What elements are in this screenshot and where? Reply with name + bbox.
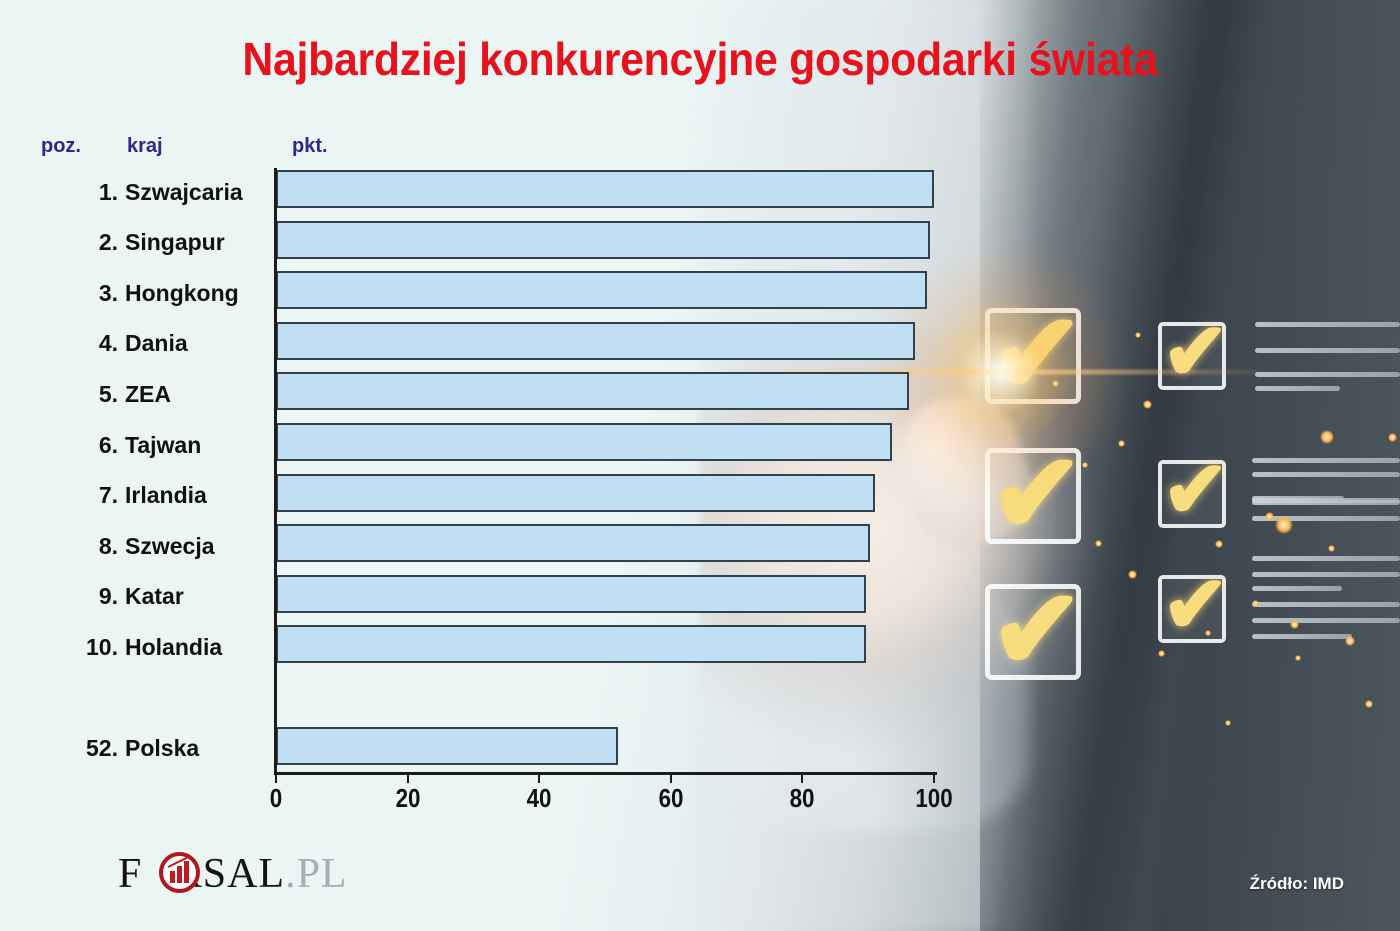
row-country-label: Szwajcaria [125,170,243,214]
x-tick [933,772,935,783]
y-axis-line [274,168,277,775]
row-rank: 3. [46,271,118,315]
bar-polska [276,727,618,765]
bar-zea [276,372,909,410]
x-tick [801,772,803,783]
row-rank: 7. [46,474,118,518]
row-rank: 2. [46,221,118,265]
row-rank: 52. [46,727,118,771]
bar-holandia [276,625,866,663]
row-country-label: Holandia [125,625,222,669]
x-tick [407,772,409,783]
bar-singapur [276,221,930,259]
x-tick [670,772,672,783]
x-tick-label: 40 [527,783,552,814]
x-tick-label: 60 [658,783,683,814]
bar-szwajcaria [276,170,934,208]
column-header-points: pkt. [292,135,328,158]
column-header-country: kraj [127,135,163,158]
bar-dania [276,322,915,360]
infographic-chart: Najbardziej konkurencyjne gospodarki świ… [0,0,1400,931]
x-tick-label: 20 [395,783,420,814]
logo-part-1: F [118,851,142,897]
x-tick-label: 100 [915,783,952,814]
row-rank: 10. [46,625,118,669]
x-tick [275,772,277,783]
bar-irlandia [276,474,875,512]
logo-part-3: .PL [285,851,348,897]
row-country-label: Irlandia [125,474,207,518]
row-rank: 9. [46,575,118,619]
row-country-label: Singapur [125,221,225,265]
row-country-label: ZEA [125,372,171,416]
bar-hongkong [276,271,927,309]
row-country-label: Hongkong [125,271,239,315]
row-rank: 4. [46,322,118,366]
row-country-label: Szwecja [125,524,215,568]
row-rank [46,676,118,720]
row-rank: 1. [46,170,118,214]
bar-tajwan [276,423,892,461]
row-country-label: Polska [125,727,199,771]
bar-chart-circle-icon [159,852,200,893]
source-label: Źródło: IMD [1250,874,1344,894]
row-country-label: Katar [125,575,184,619]
x-tick [538,772,540,783]
logo-wordmark: FORSAL.PL [118,850,348,898]
forsal-logo[interactable]: FORSAL.PL [118,848,348,904]
x-tick-label: 80 [790,783,815,814]
x-axis-line [276,772,937,775]
row-country-label: Tajwan [125,423,201,467]
bar-katar [276,575,866,613]
row-rank: 5. [46,372,118,416]
column-header-rank: poz. [41,135,81,158]
page-title: Najbardziej konkurencyjne gospodarki świ… [49,32,1351,86]
row-country-label: Dania [125,322,188,366]
x-tick-label: 0 [270,783,282,814]
row-rank: 6. [46,423,118,467]
bar-szwecja [276,524,870,562]
row-rank: 8. [46,524,118,568]
